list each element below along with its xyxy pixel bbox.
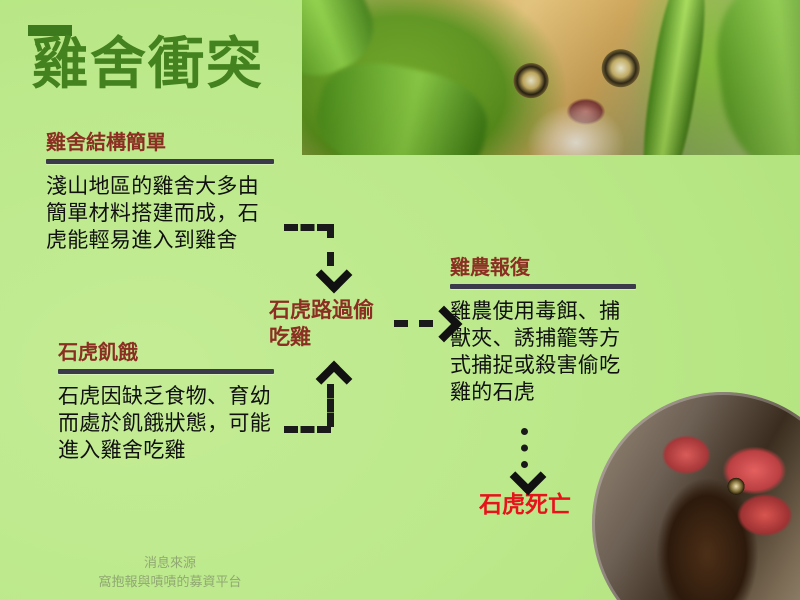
leopard-cat-photo <box>302 0 800 155</box>
node-cat-steals-chicken: 石虎路過偷吃雞 <box>269 297 389 352</box>
node-cat-death: 石虎死亡 <box>455 492 595 520</box>
source-footer-line1: 消息來源 <box>0 555 340 574</box>
block-structure-rule <box>46 159 274 164</box>
block-revenge-heading: 雞農報復 <box>450 256 636 278</box>
photo-ring-border <box>592 392 800 600</box>
source-footer-line2: 窩抱報與嘖嘖的募資平台 <box>0 574 340 593</box>
block-hungry-rule <box>58 369 274 374</box>
block-structure-heading: 雞舍結構簡單 <box>46 131 274 153</box>
connector-hungry-arrowhead-icon <box>316 361 353 398</box>
block-hungry-heading: 石虎飢餓 <box>58 341 274 363</box>
block-revenge-body: 雞農使用毒餌、捕獸夾、誘捕籠等方式捕捉或殺害偷吃雞的石虎 <box>450 298 636 406</box>
block-revenge: 雞農報復 雞農使用毒餌、捕獸夾、誘捕籠等方式捕捉或殺害偷吃雞的石虎 <box>450 256 636 406</box>
connector-hungry-horizontal <box>284 426 331 433</box>
connector-structure-horizontal <box>284 224 331 231</box>
block-structure-body: 淺山地區的雞舍大多由簡單材料搭建而成，石虎能輕易進入到雞舍 <box>46 173 274 254</box>
photo-overlay <box>302 0 800 155</box>
block-revenge-rule <box>450 284 636 289</box>
slide-canvas: 雞舍衝突 雞舍結構簡單 淺山地區的雞舍大多由簡單材料搭建而成，石虎能輕易進入到雞… <box>0 0 800 600</box>
connector-structure-arrowhead-icon <box>316 257 353 294</box>
chickens-in-coop-photo <box>592 392 800 600</box>
block-hungry-body: 石虎因缺乏食物、育幼而處於飢餓狀態，可能進入雞舍吃雞 <box>58 383 274 464</box>
page-title: 雞舍衝突 <box>32 37 264 93</box>
source-footer: 消息來源 窩抱報與嘖嘖的募資平台 <box>0 555 340 593</box>
connector-death-arrowhead-icon <box>510 459 547 496</box>
block-hungry: 石虎飢餓 石虎因缺乏食物、育幼而處於飢餓狀態，可能進入雞舍吃雞 <box>58 341 274 464</box>
block-structure: 雞舍結構簡單 淺山地區的雞舍大多由簡單材料搭建而成，石虎能輕易進入到雞舍 <box>46 131 274 254</box>
